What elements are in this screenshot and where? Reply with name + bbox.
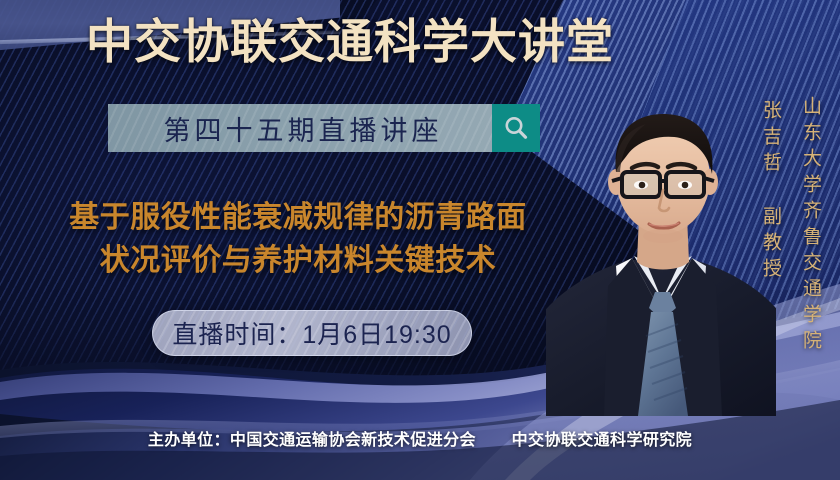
speaker-portrait bbox=[546, 86, 776, 416]
lecture-title-line1: 基于服役性能衰减规律的沥青路面 bbox=[18, 196, 578, 239]
live-lecture-poster: 中交协联交通科学大讲堂 第四十五期直播讲座 基于服役性能衰减规律的沥青路面 状况… bbox=[0, 0, 840, 480]
episode-bar: 第四十五期直播讲座 bbox=[108, 104, 540, 152]
page-title: 中交协联交通科学大讲堂 bbox=[0, 14, 700, 72]
organizer-prefix: 主办单位：中国交通运输协会新技术促进分会 bbox=[148, 432, 476, 449]
lecture-title: 基于服役性能衰减规律的沥青路面 状况评价与养护材料关键技术 bbox=[18, 196, 578, 282]
search-icon-container[interactable] bbox=[492, 104, 540, 152]
organizer-suffix: 中交协联交通科学研究院 bbox=[512, 432, 692, 449]
organizer-footer: 主办单位：中国交通运输协会新技术促进分会 中交协联交通科学研究院 bbox=[0, 426, 840, 450]
lecture-title-line2: 状况评价与养护材料关键技术 bbox=[18, 239, 578, 282]
speaker-name-role: 张吉哲 副教授 bbox=[757, 100, 784, 284]
broadcast-time-badge: 直播时间：1月6日19:30 bbox=[152, 310, 472, 356]
episode-label: 第四十五期直播讲座 bbox=[108, 104, 492, 152]
search-icon bbox=[502, 114, 530, 142]
speaker-affiliation: 山东大学齐鲁交通学院 bbox=[797, 96, 824, 356]
